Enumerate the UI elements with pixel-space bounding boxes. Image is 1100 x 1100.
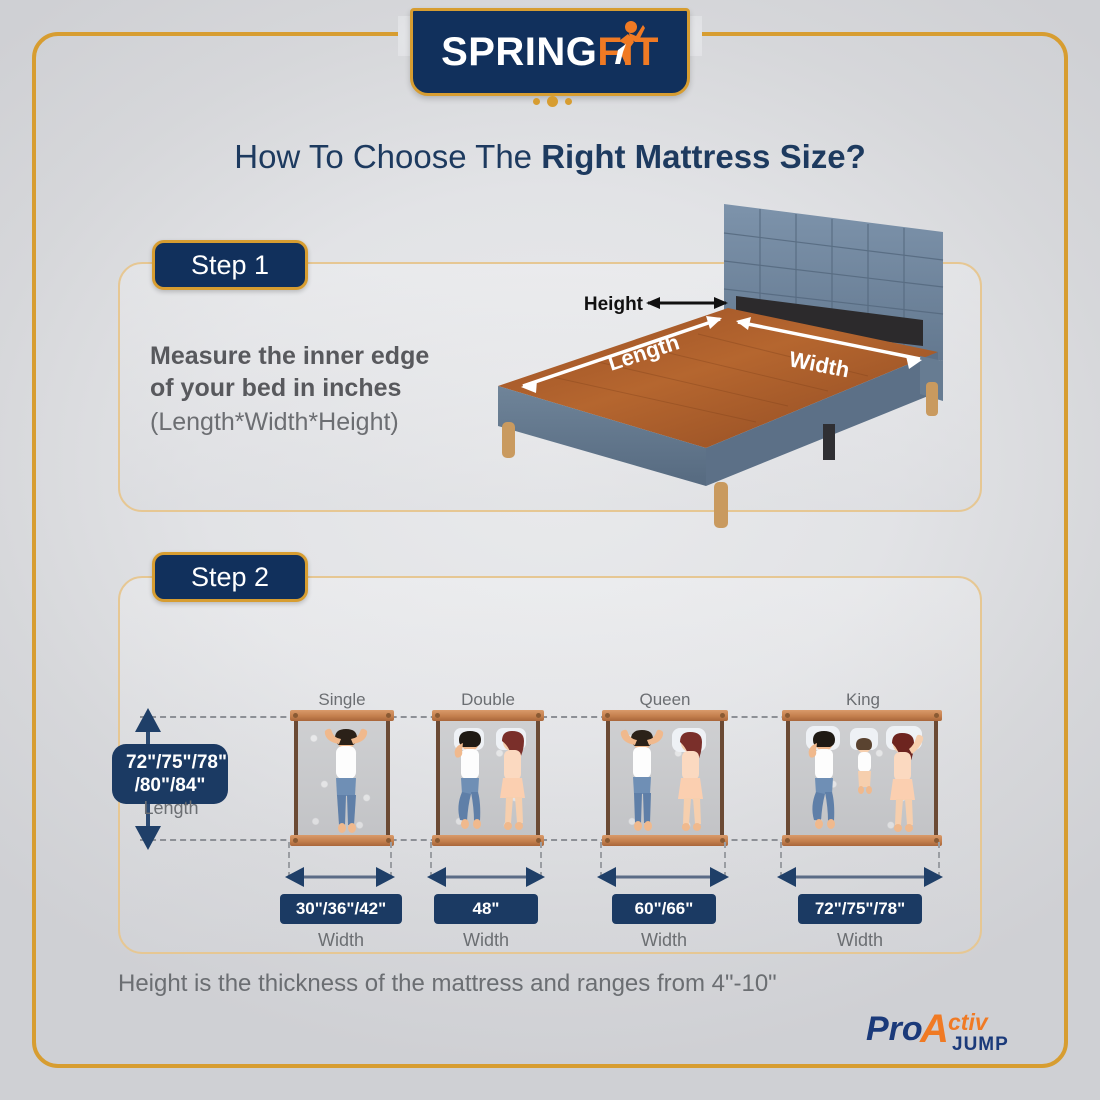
size-label-queen: Queen bbox=[605, 690, 725, 710]
mattress-single bbox=[294, 716, 390, 840]
width-value-queen: 60"/66" bbox=[612, 894, 716, 924]
width-caption-single: Width bbox=[281, 930, 401, 951]
sleeper-figures-king bbox=[790, 716, 934, 840]
bed-leg-rear-dark bbox=[823, 424, 835, 460]
bed-leg-left bbox=[502, 422, 515, 458]
proactiv-jump-text: JUMP bbox=[952, 1034, 1009, 1055]
step1-line1: Measure the inner edge bbox=[150, 340, 480, 372]
step1-line3: (Length*Width*Height) bbox=[150, 406, 480, 438]
slat-bottom-queen bbox=[602, 835, 728, 846]
mattress-double bbox=[436, 716, 540, 840]
width-value-double: 48" bbox=[434, 894, 538, 924]
bed-illustration: Height Length Width bbox=[488, 186, 988, 536]
step1-badge: Step 1 bbox=[152, 240, 308, 290]
bed-leg-front bbox=[714, 482, 728, 528]
width-arrow-single bbox=[284, 864, 396, 890]
step1-instructions: Measure the inner edge of your bed in in… bbox=[150, 340, 480, 438]
mattress-size-diagram: 72"/75"/78" /80"/84" Length Single bbox=[118, 576, 982, 954]
proactiv-ctiv-text: ctiv bbox=[948, 1009, 989, 1035]
size-label-king: King bbox=[803, 690, 923, 710]
page-title-normal: How To Choose The bbox=[234, 138, 541, 175]
sleeper-figures-double bbox=[440, 716, 536, 840]
slat-bottom-double bbox=[432, 835, 544, 846]
slat-bottom-king bbox=[782, 835, 942, 846]
length-caption: Length bbox=[118, 798, 224, 819]
page-title-bold: Right Mattress Size? bbox=[541, 138, 866, 175]
step1-line2: of your bed in inches bbox=[150, 372, 480, 404]
bed-leg-right bbox=[926, 382, 938, 416]
proactiv-a-text: A bbox=[919, 1007, 949, 1051]
slat-top-king bbox=[782, 710, 942, 721]
slat-top-single bbox=[290, 710, 394, 721]
mattress-surface-double bbox=[440, 716, 536, 840]
size-label-single: Single bbox=[282, 690, 402, 710]
logo-dots-ornament bbox=[533, 96, 572, 107]
proactiv-logo: Pro A ctiv JUMP bbox=[866, 1004, 1034, 1056]
slat-top-double bbox=[432, 710, 544, 721]
bed-height-label: Height bbox=[584, 294, 644, 315]
mattress-surface-single bbox=[298, 716, 386, 840]
width-caption-double: Width bbox=[426, 930, 546, 951]
width-value-single: 30"/36"/42" bbox=[280, 894, 402, 924]
width-caption-queen: Width bbox=[604, 930, 724, 951]
dot-large-center bbox=[547, 96, 558, 107]
runner-figure-icon bbox=[612, 20, 646, 66]
mattress-queen bbox=[606, 716, 724, 840]
infographic-page: SPRINGFIT How To Choose The Right Mattre… bbox=[0, 0, 1100, 1100]
mattress-surface-queen bbox=[610, 716, 720, 840]
logo-spring-text: SPRING bbox=[441, 30, 597, 74]
width-arrow-king bbox=[776, 864, 944, 890]
slat-bottom-single bbox=[290, 835, 394, 846]
slat-top-queen bbox=[602, 710, 728, 721]
sleeper-figures-queen bbox=[610, 716, 720, 840]
mattress-king bbox=[786, 716, 938, 840]
sleeper-figures-single bbox=[298, 716, 386, 840]
springfit-logo-badge: SPRINGFIT bbox=[410, 8, 690, 96]
length-value-badge: 72"/75"/78" /80"/84" bbox=[112, 744, 228, 804]
page-title: How To Choose The Right Mattress Size? bbox=[0, 138, 1100, 176]
size-label-double: Double bbox=[428, 690, 548, 710]
proactiv-pro-text: Pro bbox=[866, 1010, 923, 1048]
width-caption-king: Width bbox=[800, 930, 920, 951]
width-value-king: 72"/75"/78" bbox=[798, 894, 922, 924]
footer-note: Height is the thickness of the mattress … bbox=[118, 970, 938, 998]
width-arrow-queen bbox=[596, 864, 730, 890]
mattress-surface-king bbox=[790, 716, 934, 840]
width-arrow-double bbox=[426, 864, 546, 890]
dot-small-left bbox=[533, 98, 540, 105]
dot-small-right bbox=[565, 98, 572, 105]
